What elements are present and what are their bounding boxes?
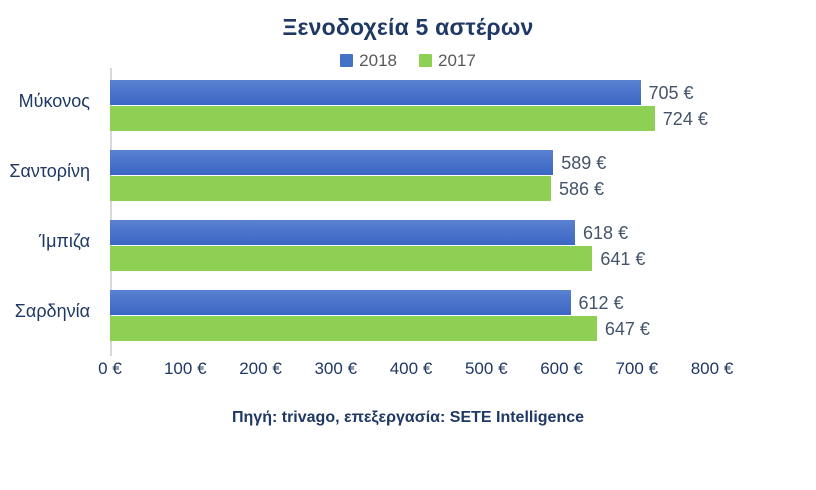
bar-group: 589 € 586 €	[110, 150, 712, 202]
legend-item-2018[interactable]: 2018	[340, 52, 397, 69]
bar-2017[interactable]: 586 €	[110, 176, 551, 201]
bar-value-label: 586 €	[559, 180, 604, 198]
category-axis: Μύκονος Σαντορίνη Ίμπιζα Σαρδηνία	[0, 72, 100, 352]
bar-2018[interactable]: 618 €	[110, 220, 575, 245]
category-label: Σαρδηνία	[0, 302, 90, 320]
bar-2017[interactable]: 724 €	[110, 106, 655, 131]
bar-value-label: 647 €	[605, 320, 650, 338]
x-axis-tick: 600 €	[540, 360, 583, 377]
x-axis-tick: 400 €	[390, 360, 433, 377]
bar-group: 618 € 641 €	[110, 220, 712, 272]
bar-2018[interactable]: 589 €	[110, 150, 553, 175]
bar-value-label: 724 €	[663, 110, 708, 128]
legend-swatch-2018-icon	[340, 54, 353, 67]
legend-item-2017[interactable]: 2017	[419, 52, 476, 69]
x-axis-tick: 700 €	[615, 360, 658, 377]
legend-label-2017: 2017	[438, 52, 476, 69]
legend-swatch-2017-icon	[419, 54, 432, 67]
bar-2017[interactable]: 647 €	[110, 316, 597, 341]
bar-group: 705 € 724 €	[110, 80, 712, 132]
value-axis: 0 € 100 € 200 € 300 € 400 € 500 € 600 € …	[110, 360, 712, 386]
chart-container: Ξενοδοχεία 5 αστέρων 2018 2017 Μύκονος Σ…	[0, 0, 816, 490]
x-axis-tick: 500 €	[465, 360, 508, 377]
bar-value-label: 612 €	[579, 294, 624, 312]
bar-value-label: 618 €	[583, 224, 628, 242]
bar-value-label: 589 €	[561, 154, 606, 172]
x-axis-tick: 100 €	[164, 360, 207, 377]
category-label: Σαντορίνη	[0, 162, 90, 180]
chart-title: Ξενοδοχεία 5 αστέρων	[0, 14, 816, 41]
legend-label-2018: 2018	[359, 52, 397, 69]
bar-2018[interactable]: 705 €	[110, 80, 641, 105]
x-axis-tick: 800 €	[691, 360, 734, 377]
plot-area: 705 € 724 € 589 € 586 € 618 € 641 €	[110, 72, 712, 352]
x-axis-tick: 200 €	[239, 360, 282, 377]
category-label: Μύκονος	[0, 92, 90, 110]
chart-legend: 2018 2017	[0, 52, 816, 69]
source-note: Πηγή: trivago, επεξεργασία: SETE Intelli…	[0, 409, 816, 427]
bar-value-label: 705 €	[649, 84, 694, 102]
x-axis-tick: 0 €	[98, 360, 122, 377]
bar-2017[interactable]: 641 €	[110, 246, 592, 271]
x-axis-tick: 300 €	[314, 360, 357, 377]
bar-group: 612 € 647 €	[110, 290, 712, 342]
bar-value-label: 641 €	[600, 250, 645, 268]
bar-2018[interactable]: 612 €	[110, 290, 571, 315]
category-label: Ίμπιζα	[0, 232, 90, 250]
